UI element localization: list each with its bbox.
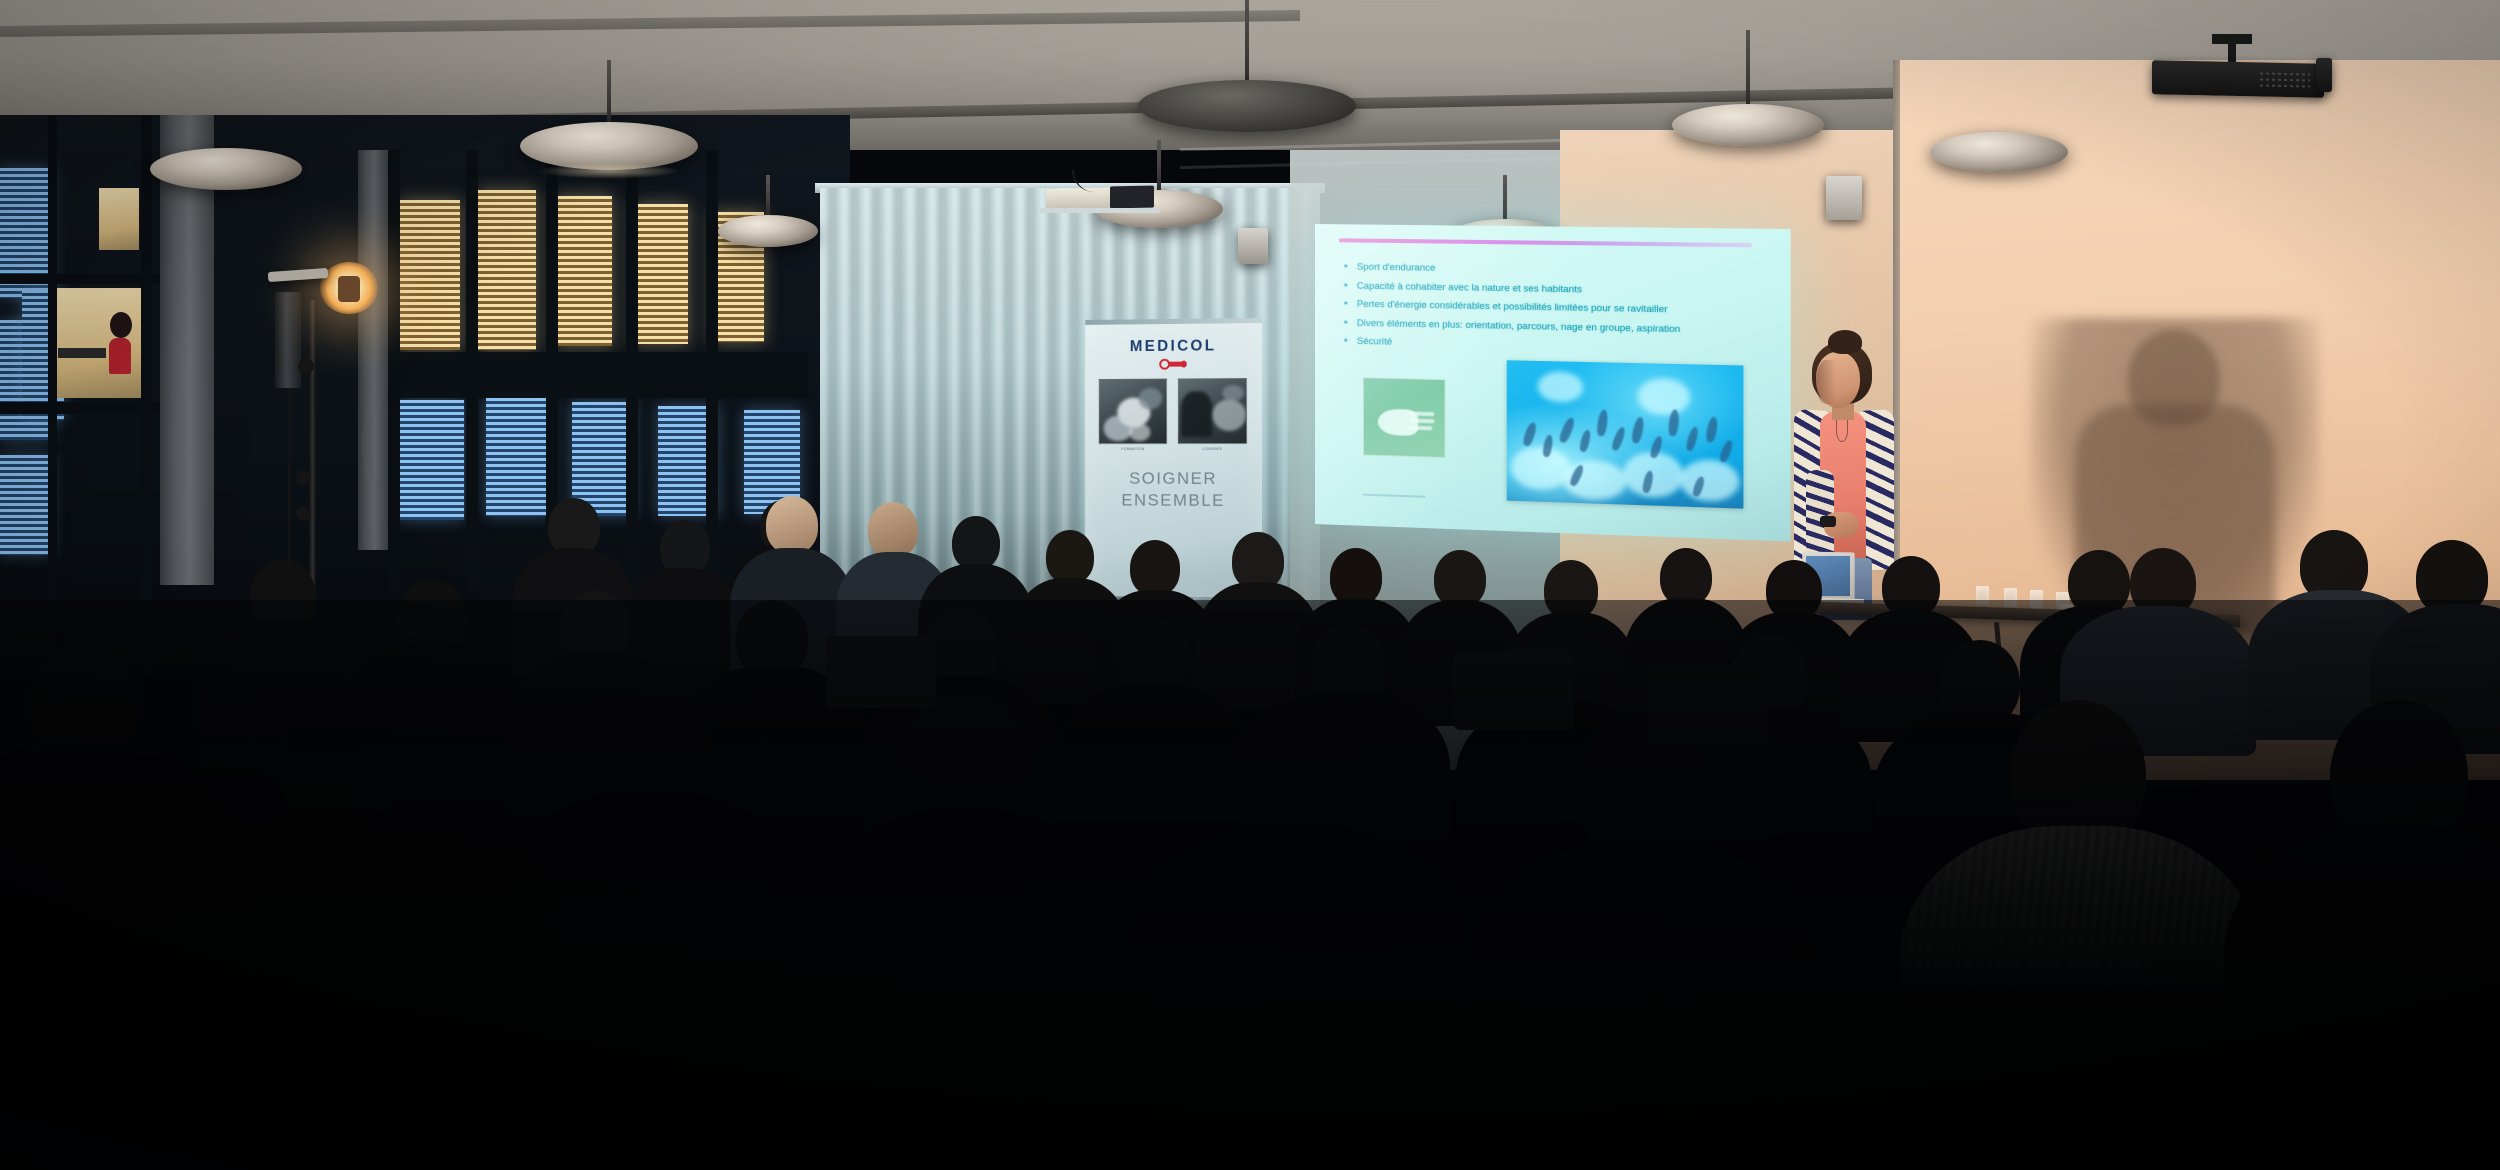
banner-tagline-line-2: ENSEMBLE: [1085, 489, 1262, 511]
presentation-clicker[interactable]: [1820, 516, 1836, 527]
window-mullion: [0, 402, 160, 414]
projection-screen: Sport d'endurance Capacité à cohabiter a…: [1315, 224, 1791, 542]
presenter-hair-bun: [1828, 330, 1862, 354]
open-water-swimmers-photo: [1507, 360, 1744, 508]
slide-bullet-list: Sport d'endurance Capacité à cohabiter a…: [1357, 263, 1771, 365]
medicol-logo: MEDICOL: [1085, 337, 1262, 370]
light-stand-pole[interactable]: [309, 300, 316, 600]
pendant-lamp: [1138, 0, 1356, 132]
slide-bullet: Divers éléments en plus: orientation, pa…: [1357, 318, 1771, 336]
drinking-glass[interactable]: [1976, 586, 1989, 605]
window-lit-room: [99, 188, 139, 250]
pendant-lamp: [718, 175, 818, 247]
banner-photo-lecture: [1178, 378, 1247, 444]
window-pane-blinds: [398, 400, 464, 520]
window-mullion: [48, 115, 57, 675]
pendant-lamp: [150, 130, 302, 190]
conference-room-photo: Sport d'endurance Capacité à cohabiter a…: [0, 0, 2500, 1170]
medicol-wordmark: MEDICOL: [1085, 337, 1262, 356]
slide-header-rule: [1339, 238, 1752, 247]
window-pane-blinds-warm: [478, 190, 536, 350]
projector-shelf: [1040, 208, 1160, 213]
studio-light-bulb: [338, 276, 360, 302]
window-pane-blinds: [486, 398, 550, 516]
shelf-projector-lens: [1110, 186, 1154, 209]
slide-bullet: Sport d'endurance: [1357, 263, 1771, 279]
ceiling-projector: [2152, 60, 2324, 98]
window-desk: [58, 348, 106, 358]
presenter-face-shadow: [1816, 360, 1836, 404]
light-ballast: [275, 292, 301, 388]
banner-photo-surgery: [1099, 379, 1167, 445]
window-mullion: [0, 274, 160, 284]
wall-speaker: [1238, 228, 1268, 264]
drinking-glass[interactable]: [2030, 590, 2043, 609]
wall-speaker: [1826, 176, 1862, 220]
pendant-lamp: [1930, 110, 2068, 172]
window-pane-blinds-warm: [400, 200, 460, 350]
banner-photo-caption: FORMATION: [1099, 447, 1167, 451]
projector-lens-housing: [2316, 58, 2332, 92]
concrete-pillar: [358, 150, 388, 550]
window-person-red-top: [109, 338, 131, 374]
banner-top-bar: [1085, 318, 1262, 325]
banner-photo-caption: CONGRES: [1178, 447, 1247, 451]
pendant-lamp: [1672, 30, 1824, 146]
presenter-necklace: [1836, 420, 1848, 442]
chair-back: [826, 636, 936, 708]
banner-tagline: SOIGNER ENSEMBLE: [1085, 468, 1262, 512]
light-stand-knob[interactable]: [296, 506, 311, 521]
slide-footer-rule: [1363, 494, 1425, 498]
medicol-logo-icon: [1159, 359, 1187, 370]
pendant-lamp: [520, 60, 698, 170]
slide-bullet: Pertes d'énergie considérables et possib…: [1357, 300, 1771, 318]
window-person-head: [110, 312, 132, 338]
chair-back: [1454, 650, 1574, 730]
pendant-lamp: [1095, 140, 1223, 228]
chair-back: [1648, 664, 1768, 744]
green-hand-icon: [1363, 377, 1446, 458]
window-mullion: [141, 115, 152, 675]
light-stand-knob[interactable]: [298, 358, 314, 374]
window-pane-blinds-warm: [556, 196, 612, 346]
banner-photo-row: [1099, 378, 1248, 444]
slide-bullet: Capacité à cohabiter avec la nature et s…: [1357, 281, 1771, 298]
window-pane-blinds-warm: [634, 204, 688, 344]
slide-bullet: Sécurité: [1357, 337, 1771, 356]
drinking-glass[interactable]: [2004, 588, 2017, 607]
banner-tagline-line-1: SOIGNER: [1085, 468, 1262, 490]
window-transom: [388, 352, 808, 398]
light-stand-knob[interactable]: [296, 470, 311, 485]
window-pane-blinds: [0, 455, 52, 555]
